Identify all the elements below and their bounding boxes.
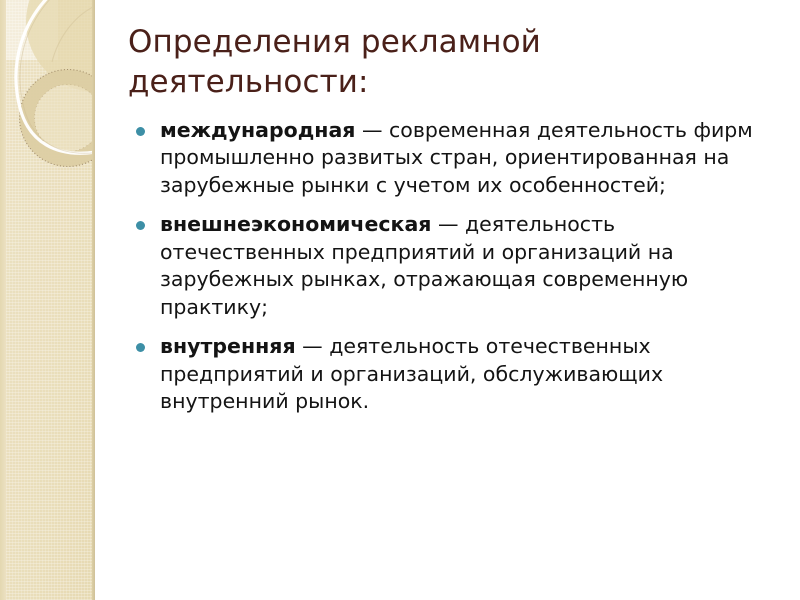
sidebar-right-edge	[92, 0, 95, 600]
decorative-sidebar	[0, 0, 95, 600]
definition-term: внешнеэкономическая	[160, 212, 431, 236]
list-item: международная — современная деятельность…	[128, 117, 776, 200]
presentation-slide: Определения рекламной деятельности: межд…	[0, 0, 800, 600]
bullet-dot-icon	[136, 343, 145, 352]
bullet-dot-icon	[136, 127, 145, 136]
list-item: внешнеэкономическая — деятельность отече…	[128, 211, 776, 322]
definitions-list: международная — современная деятельность…	[128, 117, 776, 417]
slide-content: Определения рекламной деятельности: межд…	[128, 0, 776, 600]
definition-separator: —	[302, 334, 323, 358]
definition-term: международная	[160, 118, 355, 142]
list-item: внутренняя — деятельность отечественных …	[128, 333, 776, 416]
definition-separator: —	[362, 118, 383, 142]
sidebar-rings-graphic	[0, 0, 95, 600]
definition-separator: —	[438, 212, 459, 236]
sidebar-left-edge	[0, 0, 6, 600]
definition-term: внутренняя	[160, 334, 296, 358]
bullet-dot-icon	[136, 221, 145, 230]
slide-title: Определения рекламной деятельности:	[128, 0, 648, 103]
